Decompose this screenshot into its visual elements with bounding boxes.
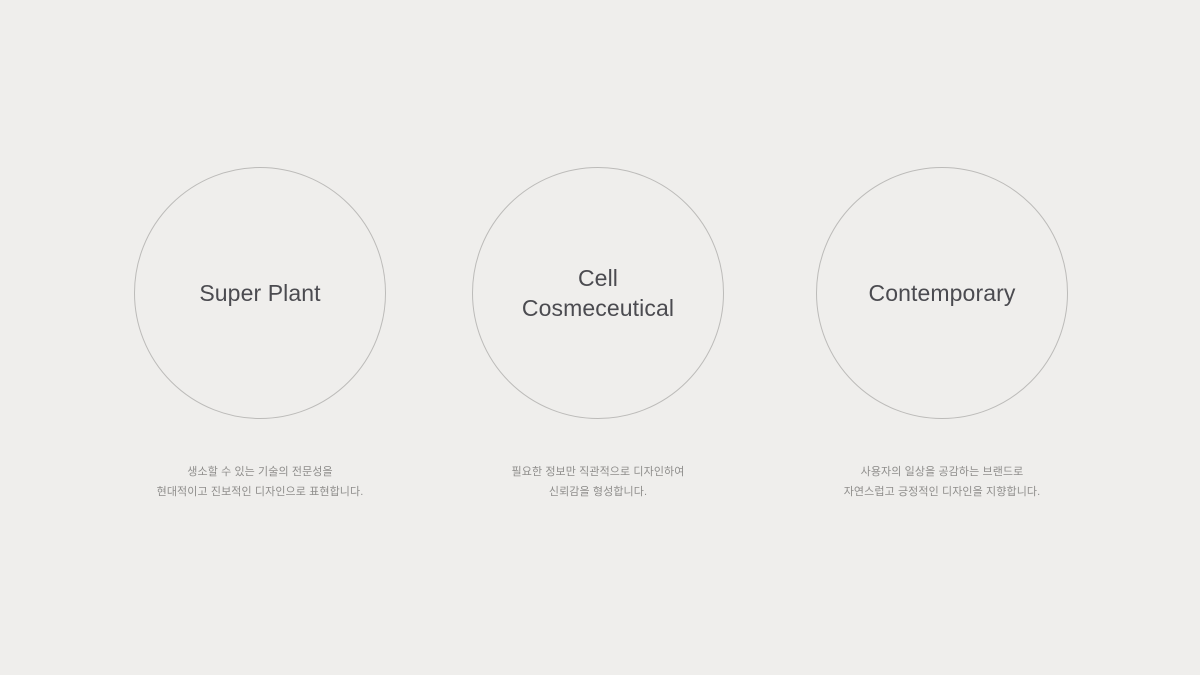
concept-title-2: Cell Cosmeceutical: [508, 263, 688, 324]
concept-item-super-plant: Super Plant 생소할 수 있는 기술의 전문성을 현대적이고 진보적인…: [90, 167, 430, 512]
concept-slide: Super Plant 생소할 수 있는 기술의 전문성을 현대적이고 진보적인…: [0, 0, 1200, 675]
concept-item-cell-cosmeceutical: Cell Cosmeceutical 필요한 정보만 직관적으로 디자인하여 신…: [428, 167, 768, 512]
concept-circle-1: Super Plant: [134, 167, 386, 419]
concept-circle-2: Cell Cosmeceutical: [472, 167, 724, 419]
concept-caption-2: 필요한 정보만 직관적으로 디자인하여 신뢰감을 형성합니다.: [428, 462, 768, 502]
concept-row: Super Plant 생소할 수 있는 기술의 전문성을 현대적이고 진보적인…: [0, 0, 1200, 675]
concept-caption-3: 사용자의 일상을 공감하는 브랜드로 자연스럽고 긍정적인 디자인을 지향합니다…: [772, 462, 1112, 502]
concept-caption-1: 생소할 수 있는 기술의 전문성을 현대적이고 진보적인 디자인으로 표현합니다…: [90, 462, 430, 502]
concept-title-3: Contemporary: [855, 278, 1030, 308]
concept-item-contemporary: Contemporary 사용자의 일상을 공감하는 브랜드로 자연스럽고 긍정…: [772, 167, 1112, 512]
concept-circle-3: Contemporary: [816, 167, 1068, 419]
concept-title-1: Super Plant: [185, 278, 334, 308]
